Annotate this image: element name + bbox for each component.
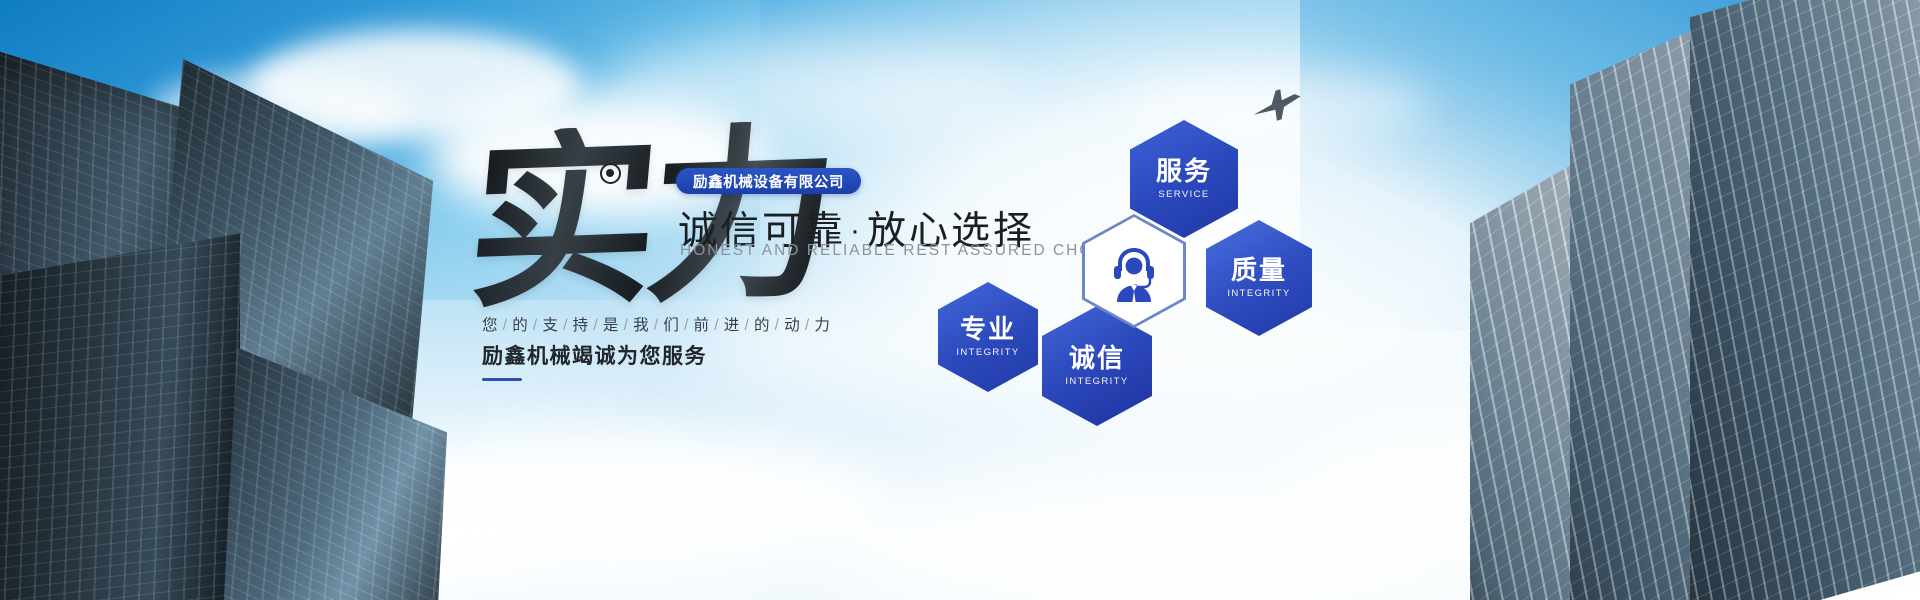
tagline-char-separator: / [620,317,634,334]
hexagon-professional-en: INTEGRITY [956,347,1019,358]
tagline-char: 前 [694,317,711,334]
tagline-char-separator: / [740,317,754,334]
tagline-char: 的 [512,317,529,334]
hexagon-service[interactable]: 服务 SERVICE [1130,120,1238,238]
tagline-char-separator: / [771,317,785,334]
tagline-char: 持 [573,317,590,334]
tagline-char-separator: / [650,317,664,334]
tagline-char-separator: / [680,317,694,334]
tagline-char: 动 [784,317,801,334]
hexagon-group: 服务 SERVICE 质量 INTEGRITY 专业 INTEGRITY 诚信 … [930,110,1330,410]
tagline-char: 是 [603,317,620,334]
headset-operator-icon [1105,240,1163,302]
tagline-char: 我 [633,317,650,334]
brush-dot-icon [600,163,621,184]
hexagon-integrity-en: INTEGRITY [1065,376,1128,387]
tagline-chars: 您/的/支/持/是/我/们/前/进/的/动/力 [482,313,831,335]
tagline-char-separator: / [710,317,724,334]
tagline-bold: 励鑫机械竭诚为您服务 [482,340,707,370]
hexagon-integrity-cn: 诚信 [1069,345,1125,372]
hexagon-quality-en: INTEGRITY [1227,288,1290,299]
tagline-char-separator: / [801,317,815,334]
hexagon-quality[interactable]: 质量 INTEGRITY [1206,220,1312,336]
accent-underline [482,378,522,381]
tagline-char: 进 [724,317,741,334]
tagline-char: 的 [754,317,771,334]
hexagon-professional-cn: 专业 [960,316,1016,343]
hexagon-professional[interactable]: 专业 INTEGRITY [938,282,1038,392]
hexagon-service-en: SERVICE [1158,189,1209,200]
hexagon-quality-cn: 质量 [1231,257,1287,284]
tagline-char: 支 [542,317,559,334]
hexagon-service-cn: 服务 [1156,158,1212,185]
tagline-char-separator: / [559,317,573,334]
tagline-char-separator: / [589,317,603,334]
company-badge: 励鑫机械设备有限公司 [676,168,861,194]
tagline-char: 们 [663,317,680,334]
promo-banner: 实力 励鑫机械设备有限公司 诚信可靠·放心选择 HONEST AND RELIA… [0,0,1920,600]
tagline-char-separator: / [529,317,543,334]
tagline-char: 您 [482,317,499,334]
tagline-char-separator: / [499,317,513,334]
tagline-char: 力 [814,317,831,334]
banner-content: 实力 励鑫机械设备有限公司 诚信可靠·放心选择 HONEST AND RELIA… [0,0,1920,600]
